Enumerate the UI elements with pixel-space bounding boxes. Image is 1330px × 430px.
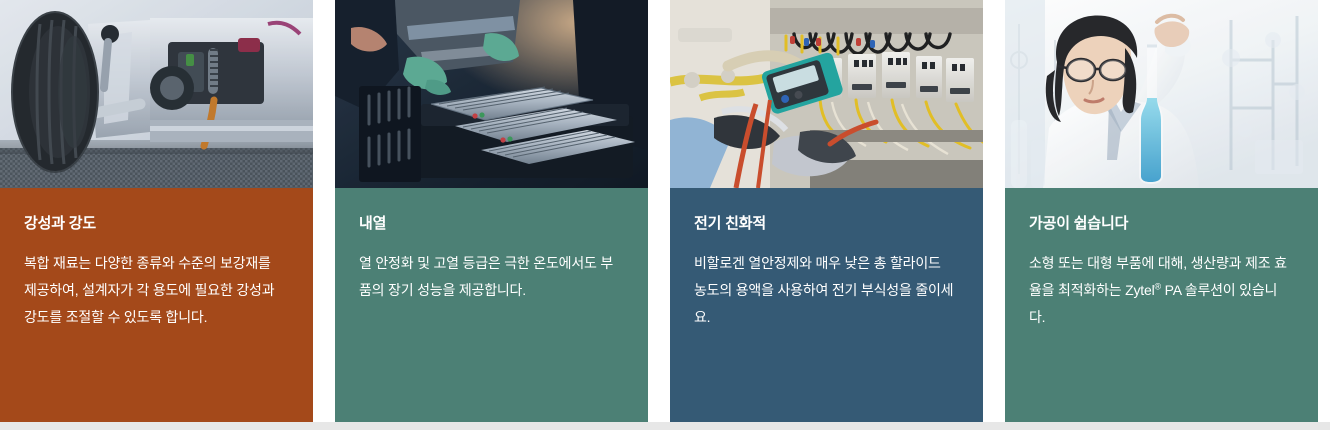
card-panel-heat-resistance: 내열 열 안정화 및 고열 등급은 극한 온도에서도 부품의 장기 성능을 제공… bbox=[335, 188, 648, 422]
card-body: 복합 재료는 다양한 종류와 수준의 보강재를 제공하여, 설계자가 각 용도에… bbox=[24, 250, 286, 331]
feature-card-easy-to-process[interactable]: 가공이 쉽습니다 소형 또는 대형 부품에 대해, 생산량과 제조 효율을 최적… bbox=[1005, 0, 1318, 422]
card-title: 전기 친화적 bbox=[694, 214, 961, 234]
feature-card-heat-resistance[interactable]: 내열 열 안정화 및 고열 등급은 극한 온도에서도 부품의 장기 성능을 제공… bbox=[335, 0, 648, 422]
card-body: 소형 또는 대형 부품에 대해, 생산량과 제조 효율을 최적화하는 Zytel… bbox=[1029, 250, 1291, 331]
feature-cards-row: 강성과 강도 복합 재료는 다양한 종류와 수준의 보강재를 제공하여, 설계자… bbox=[0, 0, 1330, 430]
feature-card-electrically-friendly[interactable]: 전기 친화적 비할로겐 열안정제와 매우 낮은 총 할라이드 농도의 용액을 사… bbox=[670, 0, 983, 422]
card-title: 가공이 쉽습니다 bbox=[1029, 214, 1296, 234]
card-gap bbox=[313, 0, 335, 1]
panel-top-edge bbox=[670, 188, 983, 191]
card-title: 강성과 강도 bbox=[24, 214, 291, 234]
panel-top-edge bbox=[335, 188, 648, 191]
card-panel-stiffness-and-strength: 강성과 강도 복합 재료는 다양한 종류와 수준의 보강재를 제공하여, 설계자… bbox=[0, 188, 313, 422]
ev-battery-module-assembly-photo bbox=[335, 0, 648, 188]
feature-card-stiffness-and-strength[interactable]: 강성과 강도 복합 재료는 다양한 종류와 수준의 보강재를 제공하여, 설계자… bbox=[0, 0, 313, 422]
card-gap bbox=[983, 0, 1005, 1]
laboratory-scientist-flask-photo bbox=[1005, 0, 1318, 188]
card-title: 내열 bbox=[359, 214, 626, 234]
electrical-panel-multimeter-photo bbox=[670, 0, 983, 188]
card-body: 열 안정화 및 고열 등급은 극한 온도에서도 부품의 장기 성능을 제공합니다… bbox=[359, 250, 621, 304]
ev-chassis-suspension-photo bbox=[0, 0, 313, 188]
card-gap bbox=[648, 0, 670, 1]
card-panel-electrically-friendly: 전기 친화적 비할로겐 열안정제와 매우 낮은 총 할라이드 농도의 용액을 사… bbox=[670, 188, 983, 422]
card-body: 비할로겐 열안정제와 매우 낮은 총 할라이드 농도의 용액을 사용하여 전기 … bbox=[694, 250, 956, 331]
panel-top-edge bbox=[0, 188, 313, 191]
card-panel-easy-to-process: 가공이 쉽습니다 소형 또는 대형 부품에 대해, 생산량과 제조 효율을 최적… bbox=[1005, 188, 1318, 422]
panel-top-edge bbox=[1005, 188, 1318, 191]
bottom-strip bbox=[0, 422, 1330, 430]
